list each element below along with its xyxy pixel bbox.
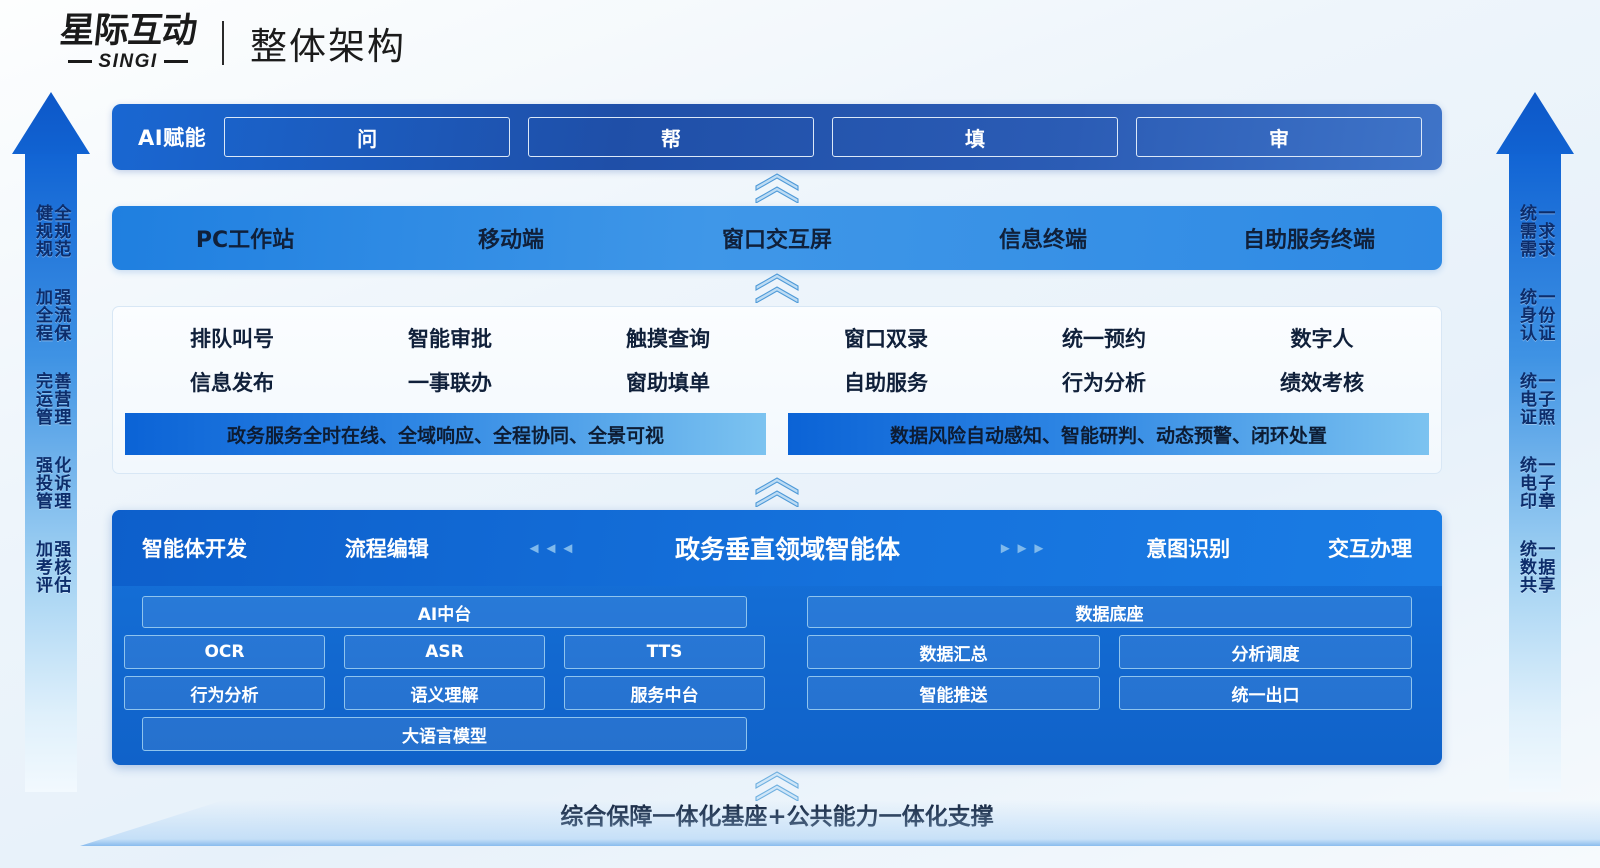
right-arrow-item: 一份证 统身认 xyxy=(1517,288,1554,342)
ai-platform-row-1: OCR ASR TTS xyxy=(124,635,765,669)
vert-col-right: 一据享 xyxy=(1535,540,1553,594)
terminal-info-kiosk[interactable]: 信息终端 xyxy=(910,222,1176,254)
vert-col-right: 善营理 xyxy=(51,372,69,426)
service-unified-appointment[interactable]: 统一预约 xyxy=(995,323,1213,353)
left-arrow-item: 化诉理 强投管 xyxy=(33,456,70,510)
right-arrow-item: 一子照 统电证 xyxy=(1517,372,1554,426)
vert-col-right: 全规范 xyxy=(51,204,69,258)
ai-capability-behavior-analysis[interactable]: 行为分析 xyxy=(124,676,325,710)
arrow-left-triple-icon: ◄◄◄ xyxy=(527,540,578,557)
page-header: 星际互动 SINGI 整体架构 xyxy=(60,14,406,73)
architecture-stage: AI赋能 问 帮 填 审 PC工作站 移动端 窗口交互屏 信息终端 自助服务终端… xyxy=(112,104,1442,831)
right-arrow-item: 一求求 统需需 xyxy=(1517,204,1554,258)
service-smart-approval[interactable]: 智能审批 xyxy=(341,323,559,353)
vert-col-left: 强投管 xyxy=(33,456,51,510)
data-platform-row-2: 智能推送 统一出口 xyxy=(807,676,1412,710)
agent-layer-row: 智能体开发 流程编辑 ◄◄◄ 政务垂直领域智能体 ►►► 意图识别 交互办理 xyxy=(112,510,1442,586)
left-arrow-item: 全规范 健规规 xyxy=(33,204,70,258)
service-applications-panel: 排队叫号 智能审批 触摸查询 窗口双录 统一预约 数字人 信息发布 一事联办 窗… xyxy=(112,306,1442,474)
data-capability-unified-export[interactable]: 统一出口 xyxy=(1119,676,1412,710)
ai-capability-review[interactable]: 审 xyxy=(1136,117,1422,157)
service-queue-calling[interactable]: 排队叫号 xyxy=(123,323,341,353)
service-touch-query[interactable]: 触摸查询 xyxy=(559,323,777,353)
data-platform-header: 数据底座 xyxy=(807,596,1412,628)
data-platform-row-1: 数据汇总 分析调度 xyxy=(807,635,1412,669)
left-arrow-item: 强核估 加考评 xyxy=(33,540,70,594)
page-title: 整体架构 xyxy=(250,16,406,70)
banner-data-risk: 数据风险自动感知、智能研判、动态预警、闭环处置 xyxy=(788,413,1429,455)
ai-empowerment-row: AI赋能 问 帮 填 审 xyxy=(112,104,1442,170)
ai-capability-ask[interactable]: 问 xyxy=(224,117,510,157)
service-digital-human[interactable]: 数字人 xyxy=(1213,323,1431,353)
vert-col-left: 健规规 xyxy=(33,204,51,258)
service-behavior-analysis[interactable]: 行为分析 xyxy=(995,367,1213,397)
left-arrow-item: 强流保 加全程 xyxy=(33,288,70,342)
service-window-assist-fill[interactable]: 窗助填单 xyxy=(559,367,777,397)
terminal-mobile[interactable]: 移动端 xyxy=(378,222,644,254)
vert-col-left: 加考评 xyxy=(33,540,51,594)
vert-col-right: 一子章 xyxy=(1535,456,1553,510)
right-arrow-body: 一求求 统需需 一份证 统身认 一子照 统电证 一子章 统电印 一据享 统数共 xyxy=(1509,154,1561,792)
vert-col-left: 统身认 xyxy=(1517,288,1535,342)
vert-col-left: 统电证 xyxy=(1517,372,1535,426)
data-platform-panel: 数据底座 数据汇总 分析调度 智能推送 统一出口 xyxy=(789,596,1430,751)
brand-logo: 星际互动 SINGI xyxy=(60,14,196,73)
agent-process-editor[interactable]: 流程编辑 xyxy=(345,533,429,563)
agent-vertical-domain-core[interactable]: 政务垂直领域智能体 xyxy=(675,530,900,566)
chevron-up-double-icon xyxy=(112,474,1442,510)
ai-row-label: AI赋能 xyxy=(138,122,206,152)
ai-capability-fill[interactable]: 填 xyxy=(832,117,1118,157)
header-divider xyxy=(222,21,224,65)
ai-platform-panel: AI中台 OCR ASR TTS 行为分析 语义理解 服务中台 大语言模型 xyxy=(124,596,765,751)
intelligence-core-block: 智能体开发 流程编辑 ◄◄◄ 政务垂直领域智能体 ►►► 意图识别 交互办理 A… xyxy=(112,510,1442,765)
vert-col-right: 一子照 xyxy=(1535,372,1553,426)
data-capability-aggregation[interactable]: 数据汇总 xyxy=(807,635,1100,669)
chevron-up-double-icon xyxy=(112,170,1442,206)
ai-capability-ocr[interactable]: OCR xyxy=(124,635,325,669)
service-grid: 排队叫号 智能审批 触摸查询 窗口双录 统一预约 数字人 信息发布 一事联办 窗… xyxy=(123,323,1431,397)
vert-col-right: 化诉理 xyxy=(51,456,69,510)
logo-english-text: SINGI xyxy=(98,51,157,73)
vert-col-right: 一求求 xyxy=(1535,204,1553,258)
right-unified-arrow: 一求求 统需需 一份证 统身认 一子照 统电证 一子章 统电印 一据享 统数共 xyxy=(1496,92,1574,792)
agent-interactive-handling[interactable]: 交互办理 xyxy=(1328,533,1412,563)
logo-dash-right xyxy=(164,60,188,63)
services-panel-spacer xyxy=(123,455,1431,473)
vert-col-right: 强流保 xyxy=(51,288,69,342)
ai-platform-llm[interactable]: 大语言模型 xyxy=(142,717,747,751)
terminal-layer-row: PC工作站 移动端 窗口交互屏 信息终端 自助服务终端 xyxy=(112,206,1442,270)
left-governance-arrow: 全规范 健规规 强流保 加全程 善营理 完运管 化诉理 强投管 强核估 加考评 xyxy=(12,92,90,792)
right-arrow-item: 一据享 统数共 xyxy=(1517,540,1554,594)
agent-development[interactable]: 智能体开发 xyxy=(142,533,247,563)
ai-capability-service-platform[interactable]: 服务中台 xyxy=(564,676,765,710)
arrow-right-triple-icon: ►►► xyxy=(998,540,1049,557)
left-arrow-item: 善营理 完运管 xyxy=(33,372,70,426)
banner-government-service: 政务服务全时在线、全域响应、全程协同、全景可视 xyxy=(125,413,766,455)
service-one-matter-joint[interactable]: 一事联办 xyxy=(341,367,559,397)
ai-platform-row-2: 行为分析 语义理解 服务中台 xyxy=(124,676,765,710)
chevron-up-double-icon xyxy=(112,270,1442,306)
service-info-publishing[interactable]: 信息发布 xyxy=(123,367,341,397)
service-window-dual-recording[interactable]: 窗口双录 xyxy=(777,323,995,353)
arrow-up-icon xyxy=(12,92,90,154)
right-arrow-item: 一子章 统电印 xyxy=(1517,456,1554,510)
ai-capability-asr[interactable]: ASR xyxy=(344,635,545,669)
vert-col-left: 统需需 xyxy=(1517,204,1535,258)
vert-col-left: 完运管 xyxy=(33,372,51,426)
terminal-window-interactive-screen[interactable]: 窗口交互屏 xyxy=(644,222,910,254)
left-arrow-body: 全规范 健规规 强流保 加全程 善营理 完运管 化诉理 强投管 强核估 加考评 xyxy=(25,154,77,792)
service-performance-review[interactable]: 绩效考核 xyxy=(1213,367,1431,397)
vert-col-right: 强核估 xyxy=(51,540,69,594)
vert-col-left: 加全程 xyxy=(33,288,51,342)
base-platform-shape xyxy=(0,800,1600,846)
logo-dash-left xyxy=(68,60,92,63)
data-capability-smart-push[interactable]: 智能推送 xyxy=(807,676,1100,710)
vert-col-left: 统数共 xyxy=(1517,540,1535,594)
service-self-service[interactable]: 自助服务 xyxy=(777,367,995,397)
ai-capability-semantic-understanding[interactable]: 语义理解 xyxy=(344,676,545,710)
service-banner-row: 政务服务全时在线、全域响应、全程协同、全景可视 数据风险自动感知、智能研判、动态… xyxy=(123,413,1431,455)
logo-english-row: SINGI xyxy=(68,51,187,73)
foundation-panels-row: AI中台 OCR ASR TTS 行为分析 语义理解 服务中台 大语言模型 数据… xyxy=(112,586,1442,765)
logo-chinese-text: 星际互动 xyxy=(58,14,198,50)
terminal-pc-workstation[interactable]: PC工作站 xyxy=(112,222,378,254)
arrow-up-icon xyxy=(1496,92,1574,154)
vert-col-left: 统电印 xyxy=(1517,456,1535,510)
agent-intent-recognition[interactable]: 意图识别 xyxy=(1146,533,1230,563)
ai-platform-header: AI中台 xyxy=(142,596,747,628)
terminal-self-service[interactable]: 自助服务终端 xyxy=(1176,222,1442,254)
data-capability-analysis-scheduling[interactable]: 分析调度 xyxy=(1119,635,1412,669)
ai-capability-help[interactable]: 帮 xyxy=(528,117,814,157)
vert-col-right: 一份证 xyxy=(1535,288,1553,342)
ai-capability-tts[interactable]: TTS xyxy=(564,635,765,669)
